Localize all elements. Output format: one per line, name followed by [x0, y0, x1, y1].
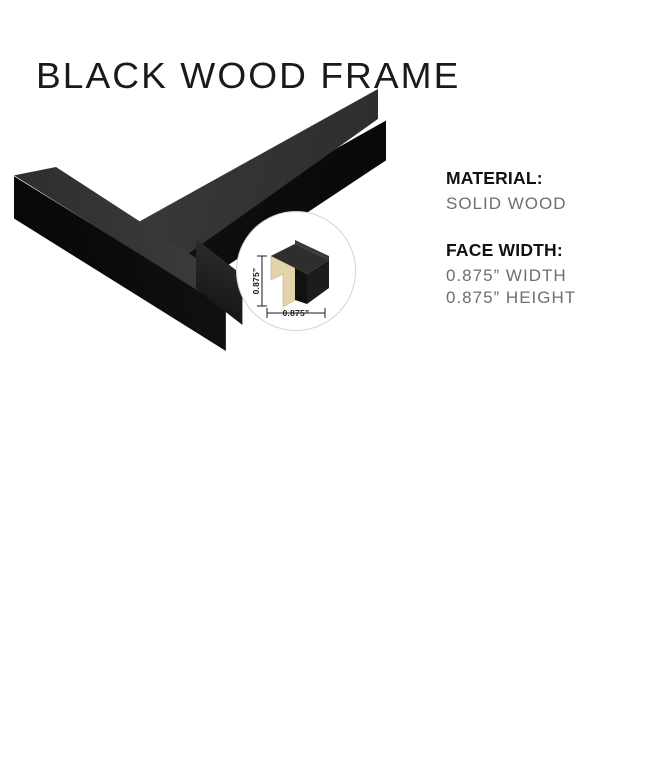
spec-label-face-width: FACE WIDTH:	[446, 240, 646, 261]
spec-group-material: MATERIAL: SOLID WOOD	[446, 168, 646, 214]
frame-spec-infographic: BLACK WOOD FRAME	[0, 0, 650, 780]
spec-group-face-width: FACE WIDTH: 0.875” WIDTH 0.875” HEIGHT	[446, 240, 646, 308]
moulding-profile-shape	[271, 240, 329, 307]
horizontal-dimension-label: 0.875”	[283, 308, 310, 318]
product-section-black-wood-frame: BLACK WOOD FRAME	[0, 0, 650, 390]
detail-callout-black-profile: 0.875” 0.875”	[236, 211, 356, 331]
product-section-natural-wood-frame: NATURAL WOOD FRAME	[0, 390, 650, 780]
spec-value-material: SOLID WOOD	[446, 194, 646, 214]
product-photo-black-frame-corner	[0, 95, 400, 360]
page-title-black-wood-frame: BLACK WOOD FRAME	[36, 55, 460, 97]
spec-value-face-height: 0.875” HEIGHT	[446, 288, 646, 308]
vertical-dimension-label: 0.875”	[251, 268, 261, 295]
spec-value-face-width: 0.875” WIDTH	[446, 266, 646, 286]
spec-list-black-frame: MATERIAL: SOLID WOOD FACE WIDTH: 0.875” …	[446, 168, 646, 308]
spec-label-material: MATERIAL:	[446, 168, 646, 189]
